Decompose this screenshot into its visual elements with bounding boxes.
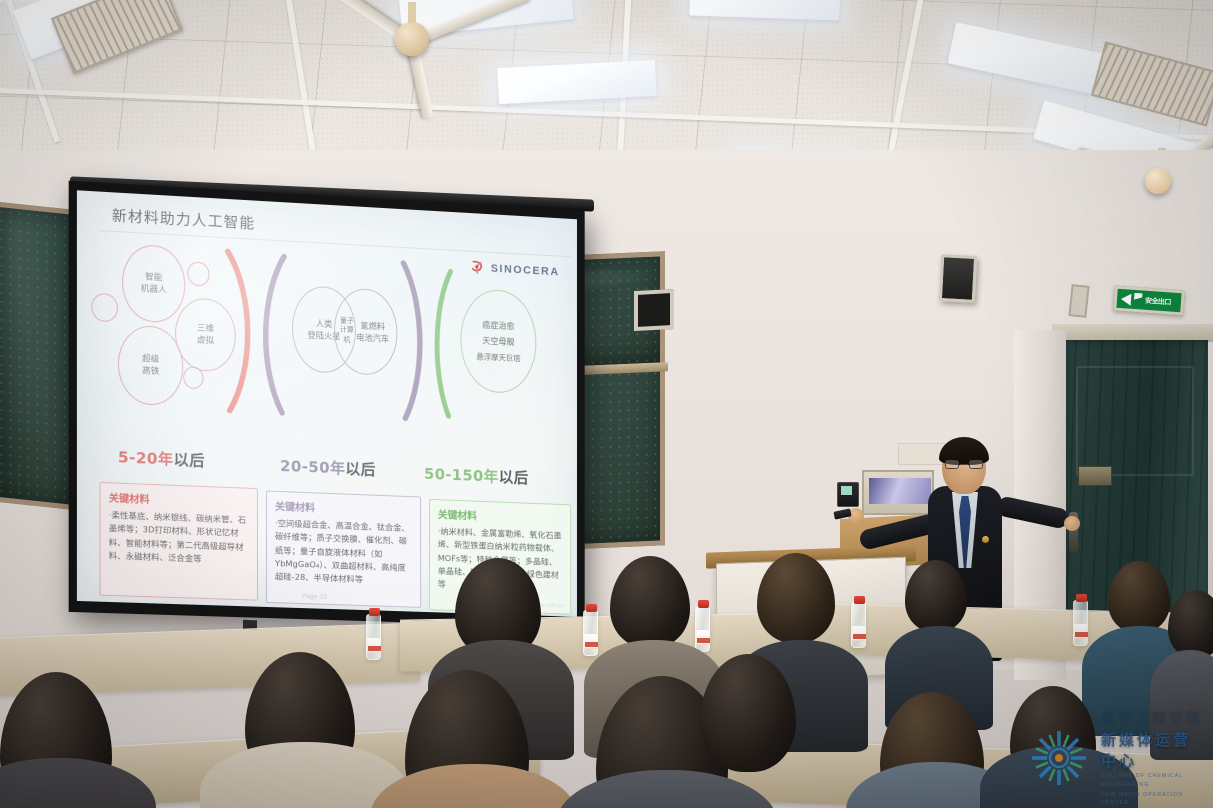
bottle-label	[367, 637, 380, 653]
wall-vent	[634, 289, 674, 331]
era-label-far: 50-150年以后	[424, 463, 529, 488]
audience-head	[610, 556, 690, 648]
presenter-right-hand	[1064, 516, 1080, 531]
audience-head	[905, 560, 967, 632]
bottle-label	[1074, 623, 1087, 639]
key-materials-heading: 关键材料	[438, 506, 564, 526]
presenter-lapel-pin	[982, 536, 989, 543]
audience-head	[1168, 590, 1213, 658]
fan-hub	[1145, 168, 1171, 194]
key-materials-heading: 关键材料	[109, 489, 250, 510]
sunburst-logo-icon	[1023, 722, 1095, 794]
running-person-icon	[1134, 292, 1143, 307]
audience-head	[1108, 561, 1170, 633]
slide-diagram: 智能 机器人 三维 虚拟 超级 高铁	[77, 233, 577, 467]
presenter-right-arm	[995, 495, 1070, 530]
wall-speaker	[939, 254, 977, 303]
channel-watermark: 化学工程学院 新媒体运营中心 COLLEGE OF CHEMICAL ENGIN…	[1023, 714, 1203, 802]
bubble-accent-small	[187, 261, 209, 286]
slide-title: 新材料助力人工智能	[112, 204, 255, 233]
bubble-quantum-computer: 量子 计算 机	[336, 299, 358, 362]
exit-sign-label: 安全出口	[1145, 295, 1172, 307]
watermark-center-name: 新媒体运营中心	[1101, 729, 1203, 771]
exit-sign: 安全出口	[1113, 286, 1185, 316]
bottle-label	[696, 629, 709, 645]
fan-rod	[408, 2, 416, 24]
fan-hub	[395, 22, 429, 56]
era-label-mid: 20-50年以后	[280, 455, 376, 480]
eyeglasses-icon	[945, 460, 983, 470]
door-panel	[1076, 366, 1194, 476]
watermark-college-name: 化学工程学院	[1101, 708, 1203, 728]
watermark-english-2: NEW MEDIA OPERATION CENTER	[1101, 791, 1203, 808]
water-bottle	[851, 602, 866, 648]
water-bottle	[366, 614, 381, 660]
arc-divider-green	[427, 266, 460, 422]
key-materials-heading: 关键材料	[275, 498, 413, 518]
water-bottle	[583, 610, 598, 656]
bottle-cap	[369, 608, 380, 616]
bubble-accent-small	[183, 366, 203, 389]
left-arrow-icon	[1121, 293, 1132, 306]
era-label-near: 5-20年以后	[118, 446, 205, 471]
chalk-dust	[0, 207, 77, 505]
bottle-cap	[698, 600, 709, 608]
watermark-text: 化学工程学院 新媒体运营中心 COLLEGE OF CHEMICAL ENGIN…	[1101, 708, 1203, 807]
watermark-english-1: COLLEGE OF CHEMICAL ENGINEERING	[1101, 772, 1203, 789]
bottle-label	[852, 625, 865, 641]
av-control-panel[interactable]	[837, 482, 859, 507]
bottle-cap	[586, 604, 597, 612]
water-bottle	[695, 606, 710, 652]
bubble-accent-small	[91, 293, 118, 323]
bottle-cap	[854, 596, 865, 604]
audience-head	[757, 553, 835, 643]
bubble-intelligent-robot: 智能 机器人	[122, 244, 185, 324]
bubble-hyperloop: 超级 高铁	[118, 324, 183, 406]
bubble-far-future: 癌症治愈 天空母舰 悬浮摩天巨塔	[460, 288, 536, 395]
bottle-label	[584, 633, 597, 649]
bottle-cap	[1076, 594, 1087, 602]
lecture-hall-photo: 安全出口 FEIQI 新材料助力人工智能	[0, 0, 1213, 808]
wall-fixture	[1068, 284, 1089, 318]
water-bottle	[1073, 600, 1088, 646]
arc-divider-purple-left	[256, 251, 294, 419]
